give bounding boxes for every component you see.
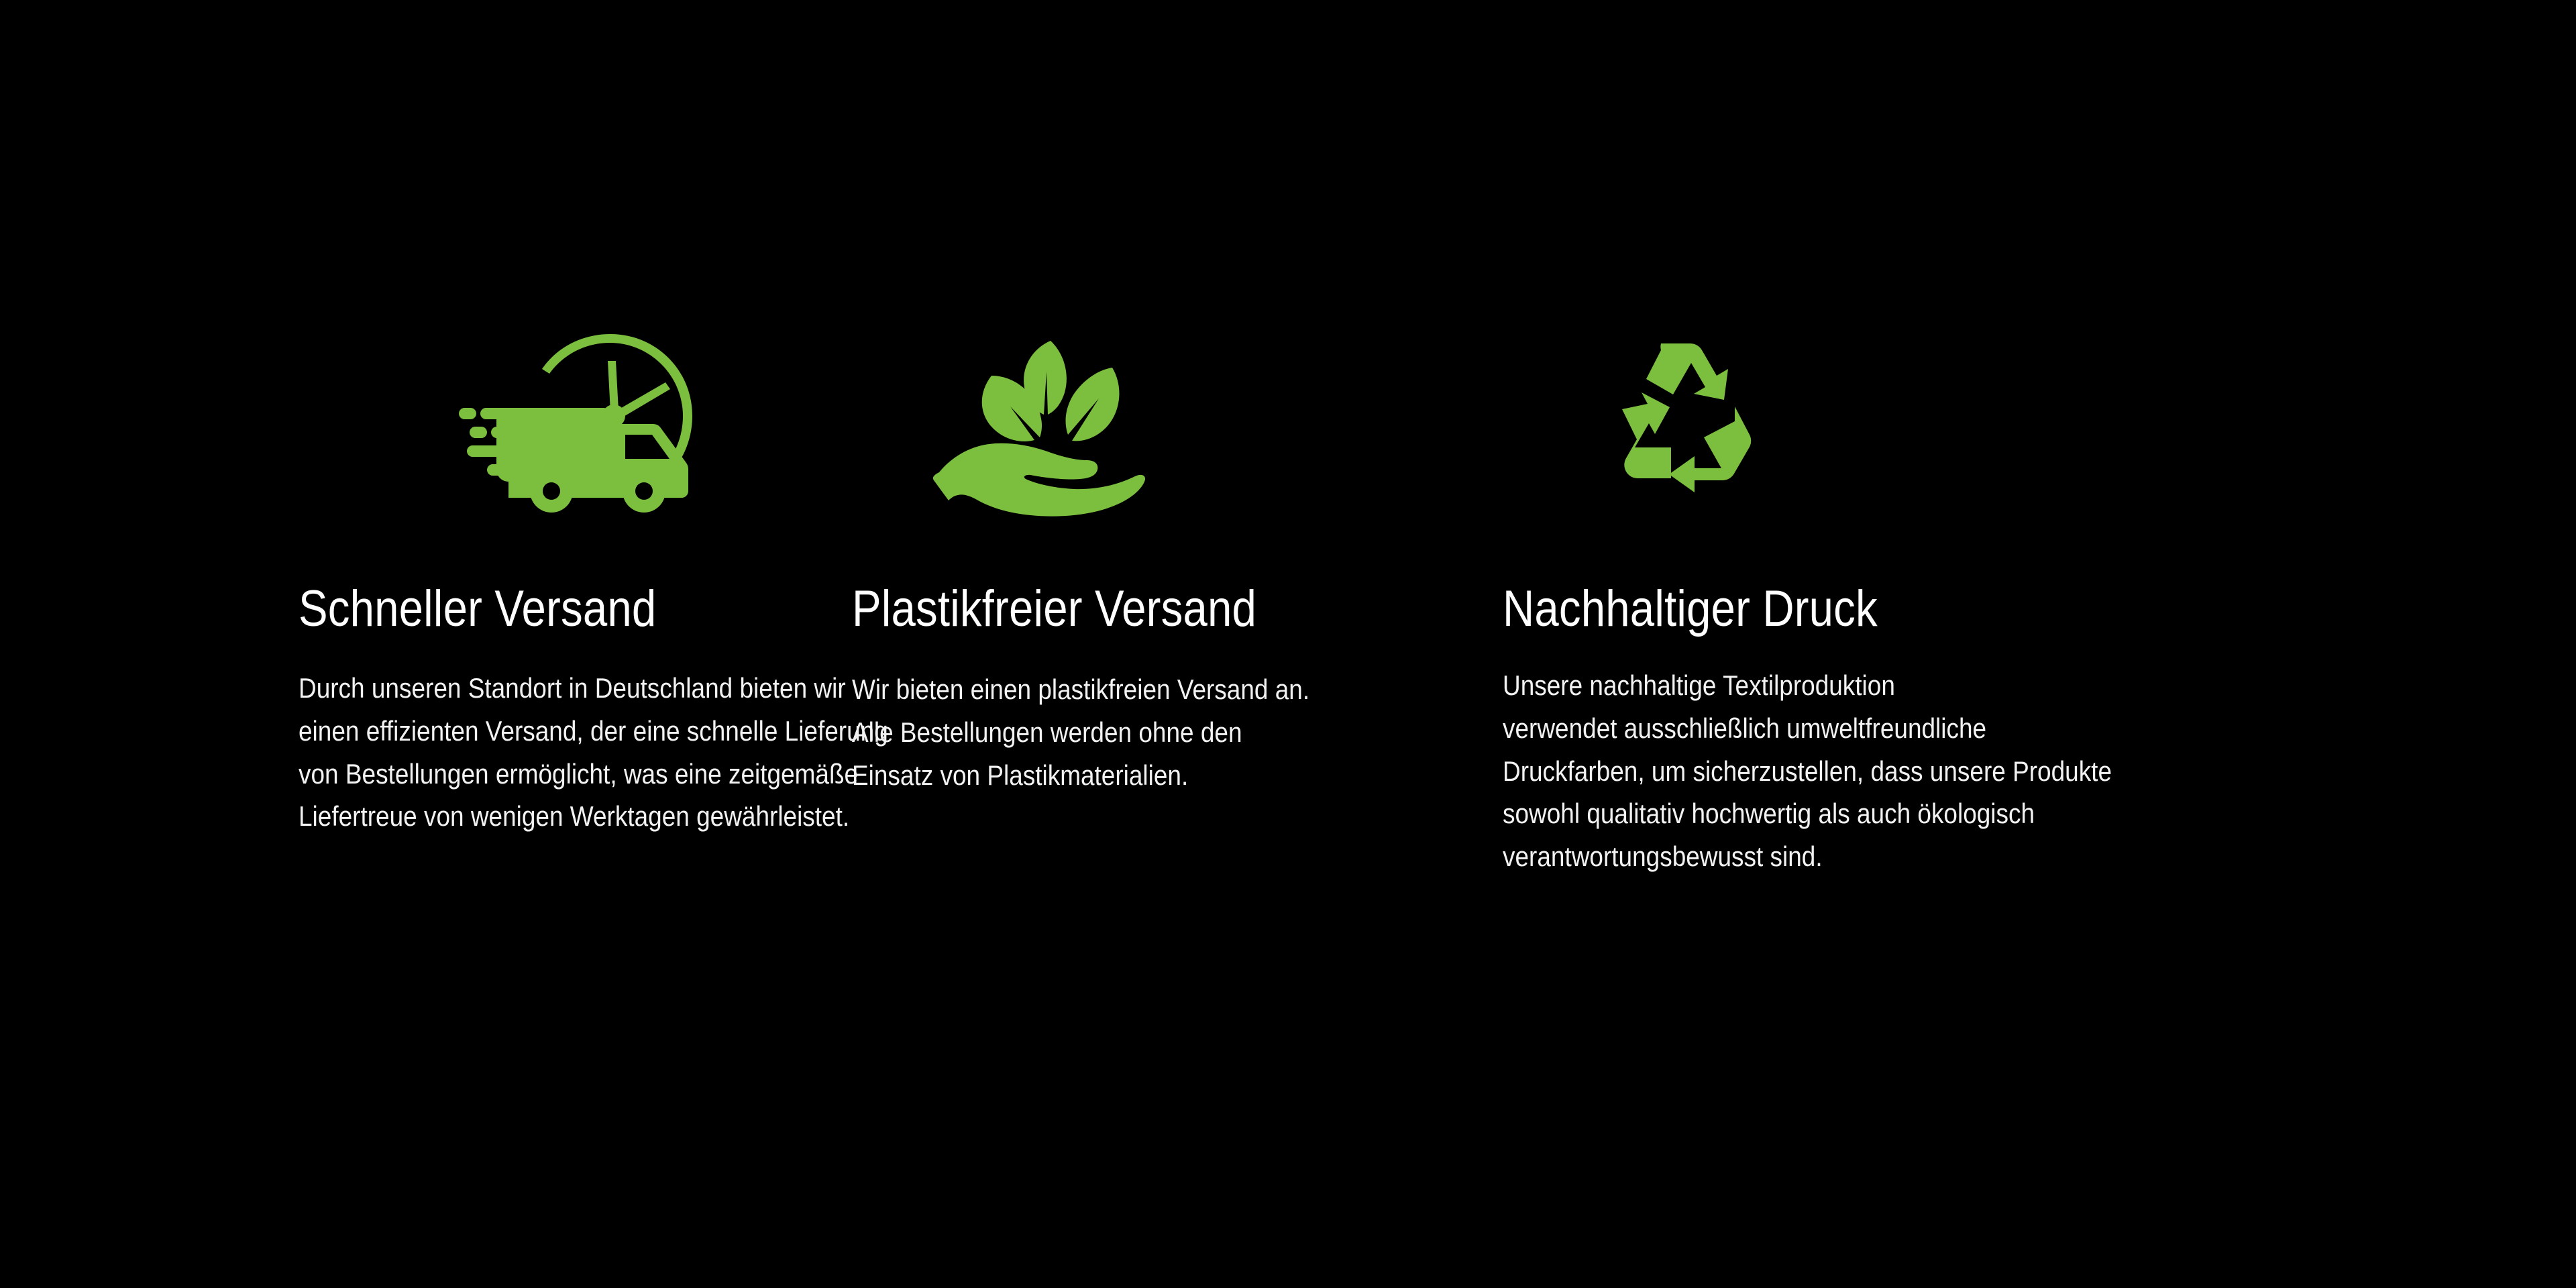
feature-card-sustainable-printing: Nachhaltiger Druck Unsere nachhaltige Te… — [1432, 322, 2224, 878]
feature-title: Schneller Versand — [299, 584, 700, 635]
feature-description-line: von Bestellungen ermöglicht, was eine ze… — [299, 753, 709, 796]
feature-description: Wir bieten einen plastikfreien Versand a… — [852, 668, 1362, 796]
feature-description: Unsere nachhaltige Textilproduktion verw… — [1503, 664, 2137, 878]
feature-description-line: verantwortungsbewusst sind. — [1503, 835, 2137, 878]
feature-description-line: Alle Bestellungen werden ohne den — [852, 711, 1362, 754]
feature-card-fast-shipping: Schneller Versand Durch unseren Standort… — [0, 322, 765, 838]
features-row: Schneller Versand Durch unseren Standort… — [0, 322, 2576, 878]
feature-description-line: Einsatz von Plastikmaterialien. — [852, 754, 1362, 797]
feature-title: Nachhaltiger Druck — [1503, 584, 2123, 635]
feature-card-plastic-free-shipping: Plastikfreier Versand Wir bieten einen p… — [765, 322, 1432, 796]
feature-description-line: Druckfarben, um sicherzustellen, dass un… — [1503, 750, 2137, 793]
delivery-truck-clock-icon — [443, 322, 704, 517]
feature-description-line: Unsere nachhaltige Textilproduktion — [1503, 664, 2137, 707]
feature-description-line: Liefertreue von wenigen Werktagen gewähr… — [299, 795, 709, 838]
feature-title: Plastikfreier Versand — [852, 584, 1351, 635]
feature-description-line: verwendet ausschließlich umweltfreundlic… — [1503, 707, 2137, 750]
feature-description-line: einen effizienten Versand, der eine schn… — [299, 710, 709, 753]
feature-description-line: sowohl qualitativ hochwertig als auch ök… — [1503, 792, 2137, 835]
hand-holding-leaves-icon — [919, 322, 1147, 517]
feature-description-line: Durch unseren Standort in Deutschland bi… — [299, 667, 709, 710]
feature-description-line: Wir bieten einen plastikfreien Versand a… — [852, 668, 1362, 711]
features-section: Schneller Versand Durch unseren Standort… — [0, 0, 2576, 1288]
recycle-icon — [1603, 322, 1754, 517]
feature-description: Durch unseren Standort in Deutschland bi… — [299, 667, 709, 838]
